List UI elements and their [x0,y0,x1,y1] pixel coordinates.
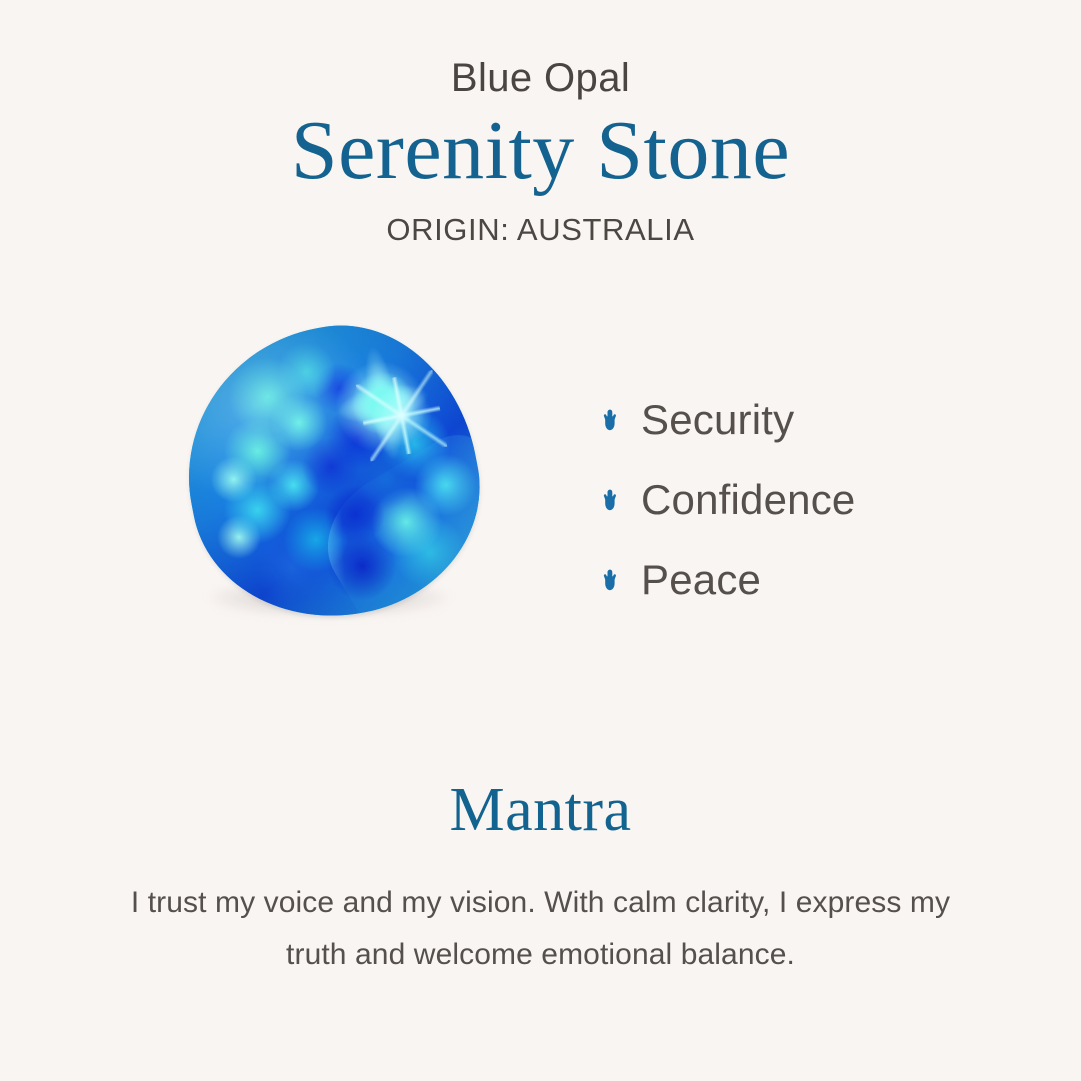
property-label: Security [641,399,794,441]
hamsa-hand-icon [600,568,620,592]
hamsa-hand-icon [600,488,620,512]
stone-and-properties-section: Security Confidence Peace [0,308,1081,638]
hamsa-hand-icon [600,408,620,432]
properties-list: Security Confidence Peace [600,380,1020,620]
gemstone-body [163,303,501,641]
gemstone-image [182,322,482,632]
mantra-text: I trust my voice and my vision. With cal… [101,877,981,980]
gemstone-info-card: Blue Opal Serenity Stone ORIGIN: AUSTRAL… [0,0,1081,1081]
stone-origin-label: ORIGIN: AUSTRALIA [0,212,1081,248]
card-header: Blue Opal Serenity Stone ORIGIN: AUSTRAL… [0,0,1081,248]
mantra-section: Mantra I trust my voice and my vision. W… [0,778,1081,980]
page-title: Serenity Stone [0,104,1081,198]
list-item: Confidence [600,460,1020,540]
list-item: Security [600,380,1020,460]
stone-kind-label: Blue Opal [0,56,1081,100]
property-label: Confidence [641,479,855,521]
list-item: Peace [600,540,1020,620]
mantra-title: Mantra [0,778,1081,843]
property-label: Peace [641,559,761,601]
